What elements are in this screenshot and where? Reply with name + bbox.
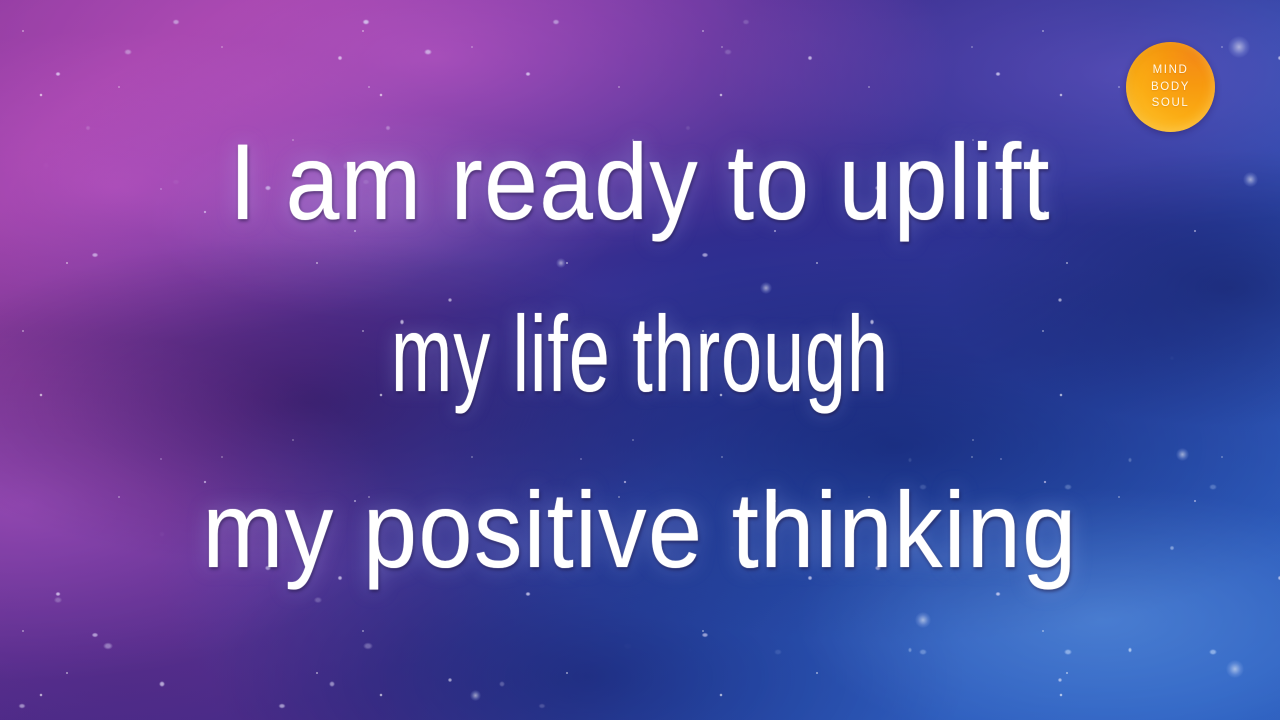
quote-line-2: my life through bbox=[204, 300, 1076, 408]
quote-card-canvas: I am ready to uplift my life through my … bbox=[0, 0, 1280, 720]
logo-line-soul: SOUL bbox=[1152, 96, 1190, 111]
quote-line-1: I am ready to uplift bbox=[68, 128, 1213, 236]
quote-line-3: my positive thinking bbox=[64, 476, 1216, 584]
logo-line-body: BODY bbox=[1151, 80, 1190, 95]
mind-body-soul-logo[interactable]: MIND BODY SOUL bbox=[1126, 42, 1215, 132]
logo-line-mind: MIND bbox=[1153, 63, 1189, 78]
